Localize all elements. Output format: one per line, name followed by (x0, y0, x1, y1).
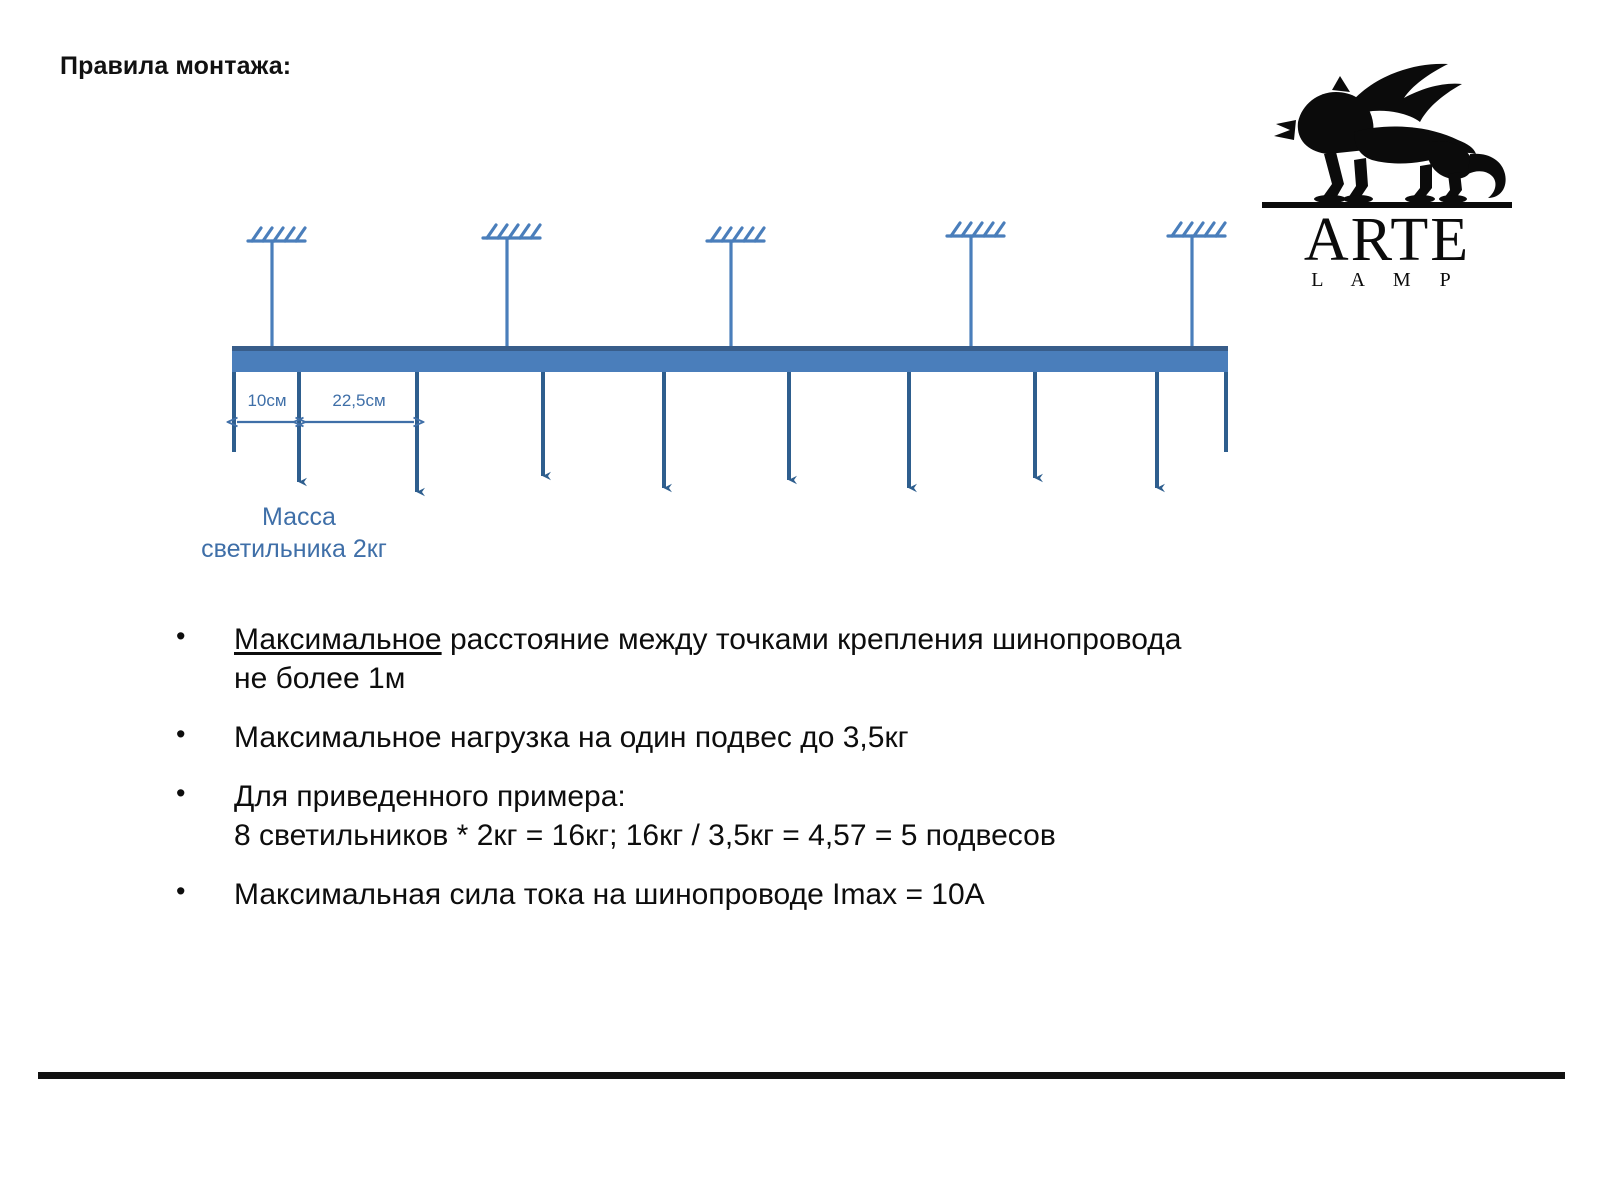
dimension-extension-lines (234, 372, 1226, 452)
dimension-label-22-5cm: 22,5см (332, 391, 385, 410)
bullet-line: Максимальное расстояние между точками кр… (234, 620, 1468, 659)
bullet-marker: • (176, 874, 185, 909)
busbar-track (232, 346, 1228, 372)
bullet-max-distance: • Максимальное расстояние между точками … (168, 620, 1468, 698)
luminaire-mass-caption-line2: светильника 2кг (201, 535, 387, 563)
winged-lion-icon (1274, 64, 1506, 203)
bullet-line: Для приведенного примера: (234, 777, 1468, 816)
bullet-underlined-word: Максимальное (234, 623, 442, 656)
bullet-line: не более 1м (234, 659, 1468, 698)
bullet-example: • Для приведенного примера: 8 светильник… (168, 777, 1468, 855)
page-title: Правила монтажа: (60, 52, 291, 81)
bullet-marker: • (176, 776, 185, 811)
bullet-marker: • (176, 717, 185, 752)
bullet-max-current: • Максимальная сила тока на шинопроводе … (168, 875, 1468, 914)
ceiling-fixing-point-4 (947, 223, 1004, 348)
track-mounting-diagram: 10см 22,5см Масса светильника 2кг (0, 200, 1600, 580)
bullet-line: Максимальное нагрузка на один подвес до … (234, 718, 1468, 757)
ceiling-fixing-point-1 (248, 228, 305, 348)
ceiling-fixing-point-5 (1168, 223, 1225, 348)
bullet-line: Максимальная сила тока на шинопроводе Im… (234, 875, 1468, 914)
ceiling-fixing-point-3 (707, 228, 764, 348)
bullet-calculation-line: 8 светильников * 2кг = 16кг; 16кг / 3,5к… (234, 816, 1468, 855)
bullet-max-load: • Максимальное нагрузка на один подвес д… (168, 718, 1468, 757)
dimension-label-10cm: 10см (247, 391, 286, 410)
rules-list: • Максимальное расстояние между точками … (168, 620, 1468, 934)
luminaire-load-arrow-group (299, 372, 1157, 492)
slide-root: Правила монтажа: (0, 0, 1600, 1200)
ceiling-fixing-group (248, 223, 1225, 348)
bullet-text: расстояние между точками крепления шиноп… (442, 623, 1182, 656)
footer-divider-rule (38, 1072, 1565, 1079)
ceiling-fixing-point-2 (483, 225, 540, 348)
luminaire-mass-caption-line1: Масса (262, 503, 336, 531)
bullet-marker: • (176, 619, 185, 654)
